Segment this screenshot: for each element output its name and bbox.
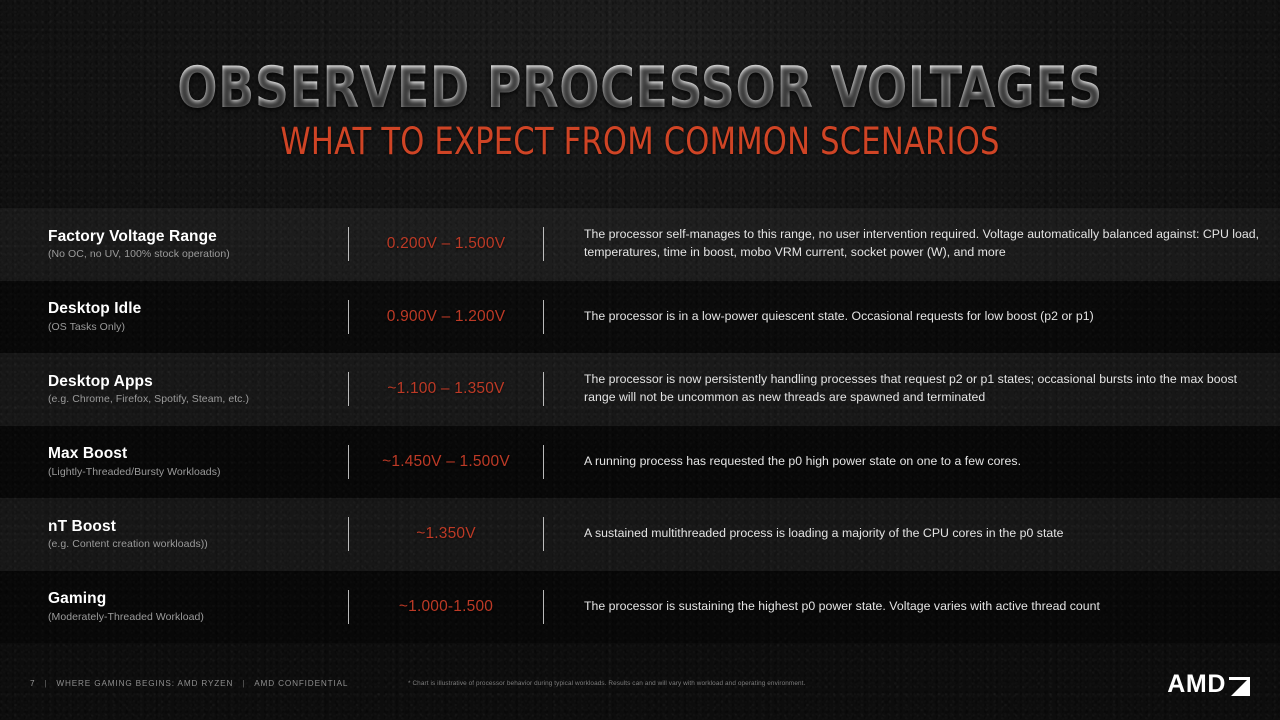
row-label-title: Gaming: [48, 590, 348, 608]
row-label-sublabel: (OS Tasks Only): [48, 321, 348, 334]
footer-confidentiality: AMD CONFIDENTIAL: [254, 679, 348, 688]
row-description: A running process has requested the p0 h…: [544, 453, 1280, 471]
row-description: The processor is now persistently handli…: [544, 371, 1280, 407]
footer-separator-1: |: [44, 679, 47, 688]
row-voltage-value: 0.900V – 1.200V: [349, 308, 543, 326]
page-number: 7: [30, 679, 35, 688]
column-divider-right: [543, 590, 544, 624]
row-description: A sustained multithreaded process is loa…: [544, 525, 1280, 543]
row-description: The processor self-manages to this range…: [544, 226, 1280, 262]
amd-logo: AMD: [1167, 672, 1250, 697]
table-row: Max Boost (Lightly-Threaded/Bursty Workl…: [0, 426, 1280, 499]
row-voltage-value: 0.200V – 1.500V: [349, 235, 543, 253]
table-row: Desktop Idle (OS Tasks Only) 0.900V – 1.…: [0, 281, 1280, 354]
column-divider-right: [543, 300, 544, 334]
page-subtitle: WHAT TO EXPECT FROM COMMON SCENARIOS: [51, 123, 1229, 162]
row-voltage-value: ~1.450V – 1.500V: [349, 453, 543, 471]
slide-canvas: OBSERVED PROCESSOR VOLTAGES WHAT TO EXPE…: [0, 0, 1280, 720]
table-row: nT Boost (e.g. Content creation workload…: [0, 498, 1280, 571]
column-divider-left: [348, 372, 349, 406]
row-label-sublabel: (No OC, no UV, 100% stock operation): [48, 248, 348, 261]
page-title: OBSERVED PROCESSOR VOLTAGES: [45, 60, 1235, 117]
row-voltage-value: ~1.100 – 1.350V: [349, 380, 543, 398]
row-description: The processor is in a low-power quiescen…: [544, 308, 1280, 326]
row-label-cell: Factory Voltage Range (No OC, no UV, 100…: [0, 228, 348, 261]
column-divider-right: [543, 517, 544, 551]
row-label-cell: Gaming (Moderately-Threaded Workload): [0, 590, 348, 623]
row-label-title: Factory Voltage Range: [48, 228, 348, 246]
row-label-sublabel: (e.g. Chrome, Firefox, Spotify, Steam, e…: [48, 393, 348, 406]
footer-deck-name: WHERE GAMING BEGINS: AMD RYZEN: [56, 679, 233, 688]
column-divider-left: [348, 227, 349, 261]
row-label-sublabel: (Moderately-Threaded Workload): [48, 611, 348, 624]
row-label-sublabel: (Lightly-Threaded/Bursty Workloads): [48, 466, 348, 479]
row-label-cell: Max Boost (Lightly-Threaded/Bursty Workl…: [0, 445, 348, 478]
row-label-cell: nT Boost (e.g. Content creation workload…: [0, 518, 348, 551]
column-divider-left: [348, 445, 349, 479]
row-description: The processor is sustaining the highest …: [544, 598, 1280, 616]
amd-arrow-icon: [1229, 677, 1250, 696]
row-voltage-value: ~1.000-1.500: [349, 598, 543, 616]
row-label-cell: Desktop Apps (e.g. Chrome, Firefox, Spot…: [0, 373, 348, 406]
column-divider-left: [348, 300, 349, 334]
table-row: Desktop Apps (e.g. Chrome, Firefox, Spot…: [0, 353, 1280, 426]
slide-header: OBSERVED PROCESSOR VOLTAGES WHAT TO EXPE…: [0, 0, 1280, 162]
row-label-title: Desktop Apps: [48, 373, 348, 391]
column-divider-left: [348, 590, 349, 624]
footnote-disclaimer: * Chart is illustrative of processor beh…: [408, 680, 805, 687]
column-divider-right: [543, 445, 544, 479]
row-label-title: Desktop Idle: [48, 300, 348, 318]
row-voltage-value: ~1.350V: [349, 525, 543, 543]
column-divider-right: [543, 372, 544, 406]
amd-wordmark: AMD: [1167, 672, 1226, 697]
table-row: Gaming (Moderately-Threaded Workload) ~1…: [0, 571, 1280, 644]
footer-separator-2: |: [242, 679, 245, 688]
table-row: Factory Voltage Range (No OC, no UV, 100…: [0, 208, 1280, 281]
row-label-cell: Desktop Idle (OS Tasks Only): [0, 300, 348, 333]
row-label-title: nT Boost: [48, 518, 348, 536]
column-divider-left: [348, 517, 349, 551]
column-divider-right: [543, 227, 544, 261]
row-label-title: Max Boost: [48, 445, 348, 463]
voltage-table: Factory Voltage Range (No OC, no UV, 100…: [0, 208, 1280, 643]
slide-footer: 7 | WHERE GAMING BEGINS: AMD RYZEN | AMD…: [0, 662, 1280, 720]
row-label-sublabel: (e.g. Content creation workloads)): [48, 538, 348, 551]
footer-meta: 7 | WHERE GAMING BEGINS: AMD RYZEN | AMD…: [30, 679, 348, 688]
